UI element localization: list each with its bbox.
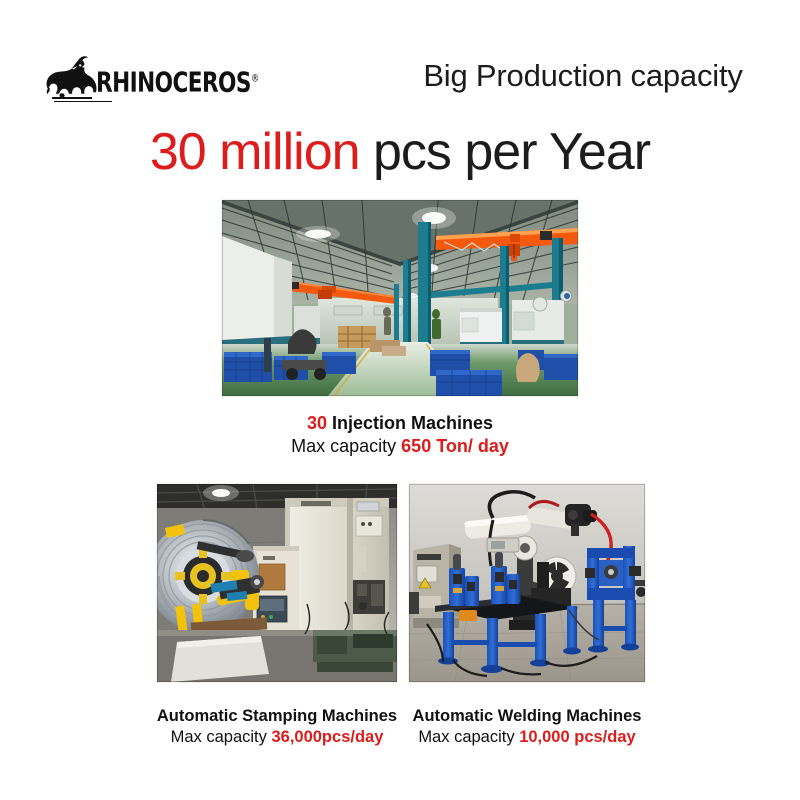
injection-capacity-value: 650 Ton/ day — [401, 436, 509, 456]
caption-welding-line1: Automatic Welding Machines — [402, 706, 652, 727]
photo-welding-machine — [409, 484, 645, 682]
injection-capacity-label: Max capacity — [291, 436, 401, 456]
page-title: Big Production capacity — [398, 58, 768, 94]
caption-welding: Automatic Welding Machines Max capacity … — [402, 706, 652, 748]
caption-injection: 30 Injection Machines Max capacity 650 T… — [222, 412, 578, 458]
photo-injection-factory — [222, 200, 578, 396]
caption-stamping: Automatic Stamping Machines Max capacity… — [147, 706, 407, 748]
headline-highlight: 30 million — [150, 123, 360, 181]
brand-name-text: RHINOCEROS — [96, 68, 251, 99]
brand-name: RHINOCEROS® — [96, 68, 259, 99]
stamping-capacity-label: Max capacity — [171, 728, 272, 746]
brand-logo: RHINOCEROS® — [38, 56, 238, 108]
stamping-capacity-value: 36,000pcs/day — [271, 728, 383, 746]
caption-injection-line1: 30 Injection Machines — [222, 412, 578, 435]
caption-welding-line2: Max capacity 10,000 pcs/day — [402, 727, 652, 748]
registered-mark: ® — [251, 73, 259, 85]
poster-canvas: RHINOCEROS® Big Production capacity 30 m… — [0, 0, 800, 800]
rhinoceros-logo-icon — [38, 56, 100, 100]
caption-injection-line2: Max capacity 650 Ton/ day — [222, 435, 578, 458]
welding-capacity-label: Max capacity — [418, 728, 519, 746]
headline-rest: pcs per Year — [360, 123, 651, 181]
caption-stamping-line1: Automatic Stamping Machines — [147, 706, 407, 727]
photo-stamping-machine — [157, 484, 397, 682]
headline: 30 million pcs per Year — [0, 126, 800, 178]
injection-machine-label: Injection Machines — [327, 413, 493, 433]
injection-machine-count: 30 — [307, 413, 327, 433]
caption-stamping-line2: Max capacity 36,000pcs/day — [147, 727, 407, 748]
welding-capacity-value: 10,000 pcs/day — [519, 728, 636, 746]
